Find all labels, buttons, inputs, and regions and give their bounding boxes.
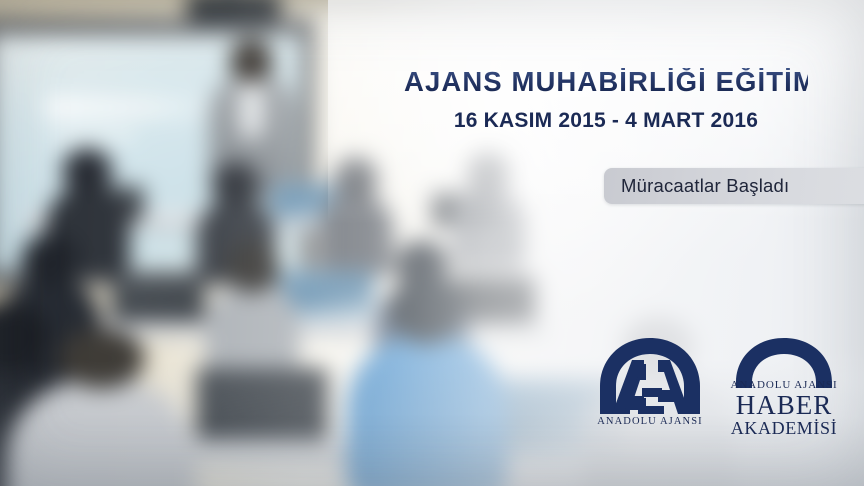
haber-akademisi-logo: ANADOLU AJANSI HABER AKADEMİSİ	[716, 336, 852, 442]
poster-canvas: AJANS MUHABİRLİĞİ EĞİTİMİ 16 KASIM 2015 …	[0, 0, 864, 486]
event-dates: 16 KASIM 2015 - 4 MART 2016	[404, 110, 808, 131]
anadolu-ajansi-logo: ANADOLU AJANSI	[594, 336, 706, 442]
haber-akademisi-wordmark: ANADOLU AJANSI HABER AKADEMİSİ	[716, 380, 852, 438]
status-banner: Müracaatlar Başladı	[604, 168, 864, 204]
haber-akademisi-line-3: AKADEMİSİ	[716, 419, 852, 438]
anadolu-ajansi-logo-caption: ANADOLU AJANSI	[594, 416, 706, 427]
aa-monogram-arch-icon	[594, 336, 706, 420]
page-title: AJANS MUHABİRLİĞİ EĞİTİMİ	[404, 68, 808, 96]
logo-group: ANADOLU AJANSI ANADOLU AJANSI HABER AKAD…	[588, 334, 856, 446]
haber-akademisi-line-2: HABER	[716, 392, 852, 420]
status-banner-label: Müracaatlar Başladı	[604, 175, 789, 197]
